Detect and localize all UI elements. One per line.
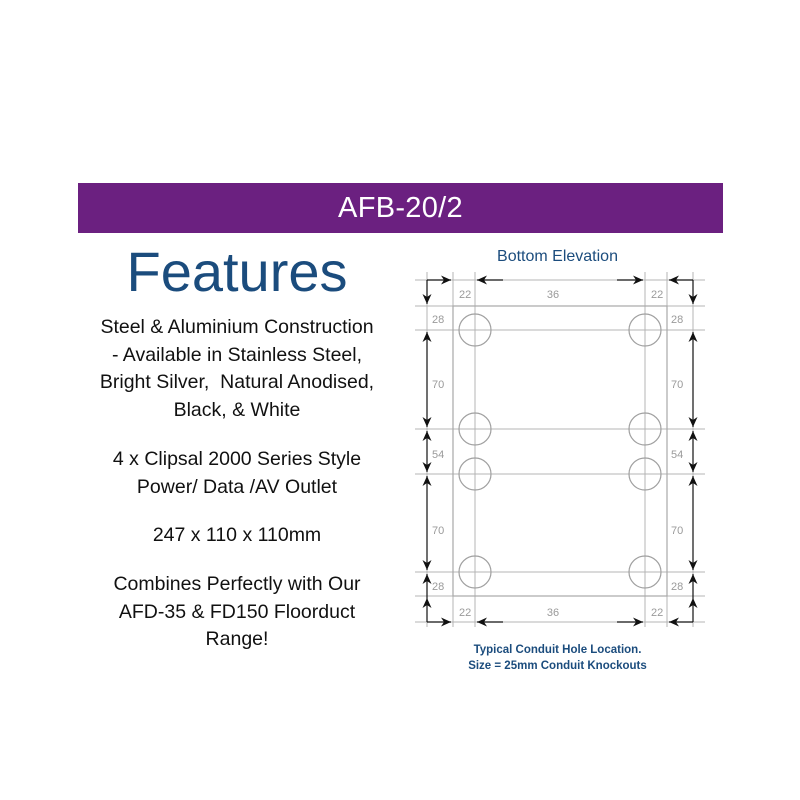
dim-left-5: 28 [432, 581, 444, 593]
feature-line: 247 x 110 x 110mm [62, 522, 412, 550]
dim-right-1: 28 [671, 314, 683, 326]
conduit-holes [459, 314, 661, 588]
dim-bottom-center: 36 [547, 607, 559, 619]
drawing-canvas: 22 36 22 22 36 22 [415, 272, 705, 627]
dim-right-4: 70 [671, 525, 683, 537]
feature-line: - Available in Stainless Steel, [62, 342, 412, 370]
feature-block-outlets: 4 x Clipsal 2000 Series Style Power/ Dat… [62, 446, 412, 501]
dim-left-1: 28 [432, 314, 444, 326]
drawing-title: Bottom Elevation [415, 248, 700, 266]
dim-left-3: 54 [432, 449, 444, 461]
dim-top-right: 22 [651, 289, 663, 301]
feature-line: Combines Perfectly with Our [62, 571, 412, 599]
dim-left-2: 70 [432, 379, 444, 391]
dim-left-4: 70 [432, 525, 444, 537]
feature-line: AFD-35 & FD150 Floorduct [62, 599, 412, 627]
feature-block-compatibility: Combines Perfectly with Our AFD-35 & FD1… [62, 571, 412, 654]
dim-bottom-right: 22 [651, 607, 663, 619]
dim-bottom-left: 22 [459, 607, 471, 619]
product-title-banner: AFB-20/2 [78, 183, 723, 233]
feature-line: Power/ Data /AV Outlet [62, 474, 412, 502]
caption-line: Size = 25mm Conduit Knockouts [415, 659, 700, 675]
feature-line: Bright Silver, Natural Anodised, [62, 369, 412, 397]
technical-drawing-panel: Bottom Elevation [415, 248, 715, 674]
dim-top-left: 22 [459, 289, 471, 301]
dim-right-2: 70 [671, 379, 683, 391]
product-title: AFB-20/2 [338, 192, 463, 225]
feature-line: Black, & White [62, 397, 412, 425]
features-heading: Features [62, 243, 412, 300]
bottom-elevation-diagram: 22 36 22 22 36 22 [415, 272, 705, 627]
dim-right-3: 54 [671, 449, 683, 461]
feature-line: Range! [62, 626, 412, 654]
feature-line: Steel & Aluminium Construction [62, 314, 412, 342]
feature-block-dimensions: 247 x 110 x 110mm [62, 522, 412, 550]
feature-line: 4 x Clipsal 2000 Series Style [62, 446, 412, 474]
features-panel: Features Steel & Aluminium Construction … [62, 243, 412, 675]
feature-block-construction: Steel & Aluminium Construction - Availab… [62, 314, 412, 425]
dim-right-5: 28 [671, 581, 683, 593]
caption-line: Typical Conduit Hole Location. [415, 643, 700, 659]
dim-top-center: 36 [547, 289, 559, 301]
drawing-caption: Typical Conduit Hole Location. Size = 25… [415, 643, 700, 674]
body-outline [453, 306, 667, 596]
